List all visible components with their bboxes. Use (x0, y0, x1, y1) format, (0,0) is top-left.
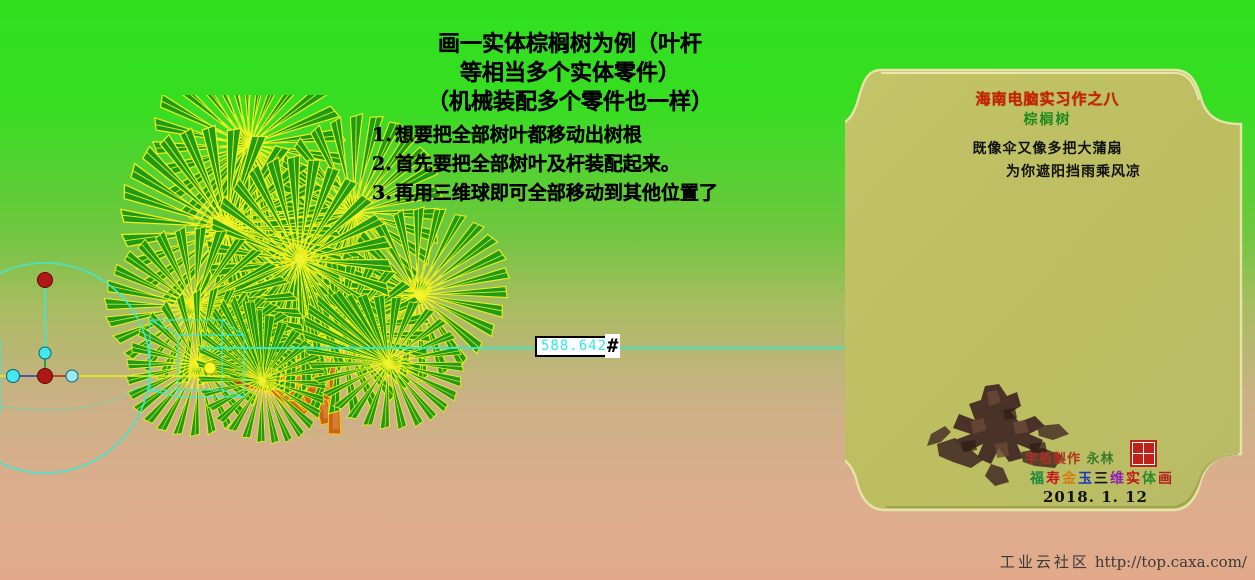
instruction-header-line-1: 画一实体棕榈树为例（叶杆 (360, 30, 780, 59)
seal-quadrant (1133, 454, 1143, 464)
dimension-value-box[interactable]: 588.642 (535, 336, 613, 357)
decorative-plaque[interactable]: 海南电脑实习作之八 棕榈树 既像伞又像多把大蒲扇 为你遮阳挡雨乘风凉 (845, 62, 1250, 520)
ball-outer-circle (0, 263, 150, 473)
colorful-signature-char: 实 (1126, 471, 1142, 487)
ball-x-neg-handle (7, 370, 20, 383)
step-number: 2. (372, 153, 392, 175)
three-dimensional-ball-manipulator[interactable] (0, 235, 230, 485)
ball-y-handle (39, 347, 51, 359)
cursive-signature-a: 宇栢製作 (1025, 452, 1081, 467)
ball-x-pos-handle (66, 370, 78, 382)
seal-quadrant (1144, 443, 1154, 453)
red-seal-stamp (1130, 440, 1157, 467)
instruction-step: 2.首先要把全部树叶及杆装配起来。 (360, 150, 780, 179)
seal-quadrant (1133, 443, 1143, 453)
plaque-cursive-signature: 宇栢製作 永林 (1025, 448, 1115, 467)
colorful-signature-char: 福 (1030, 471, 1046, 487)
instruction-header-line-3: （机械装配多个零件也一样） (360, 88, 780, 117)
cad-viewport[interactable]: 588.642 # 画一实体棕榈树为例（叶杆 等相当多个实体零件） （机械装配多… (0, 0, 1255, 580)
colorful-signature-char: 寿 (1046, 471, 1062, 487)
plaque-title: 海南电脑实习作之八 (845, 88, 1250, 109)
instruction-step-list: 1.想要把全部树叶都移动出树根 2.首先要把全部树叶及杆装配起来。 3.再用三维… (360, 121, 780, 208)
seal-quadrant (1144, 454, 1154, 464)
dimension-marker-icon: # (605, 334, 620, 358)
ball-top-handle (38, 273, 53, 288)
instruction-overlay: 画一实体棕榈树为例（叶杆 等相当多个实体零件） （机械装配多个零件也一样） 1.… (360, 30, 780, 208)
ball-center-handle (38, 369, 53, 384)
colorful-signature-char: 画 (1158, 471, 1174, 487)
plaque-poem-line-1: 既像伞又像多把大蒲扇 (845, 138, 1250, 158)
plaque-poem-line-2: 为你遮阳挡雨乘风凉 (845, 161, 1250, 181)
plaque-colorful-signature: 福寿金玉三维实体画 (1030, 468, 1174, 488)
watermark-community: 工业云社区 (1000, 553, 1090, 571)
instruction-step: 3.再用三维球即可全部移动到其他位置了 (360, 179, 780, 208)
colorful-signature-char: 三 (1094, 471, 1110, 487)
plaque-subtitle: 棕榈树 (845, 109, 1250, 129)
watermark: 工业云社区http://top.caxa.com/ (1000, 551, 1247, 572)
step-text: 再用三维球即可全部移动到其他位置了 (395, 182, 718, 204)
instruction-step: 1.想要把全部树叶都移动出树根 (360, 121, 780, 150)
watermark-url: http://top.caxa.com/ (1095, 553, 1247, 571)
step-text: 首先要把全部树叶及杆装配起来。 (395, 153, 680, 175)
instruction-header-line-2: 等相当多个实体零件） (360, 59, 780, 88)
plaque-date: 2018. 1. 12 (1043, 488, 1148, 506)
colorful-signature-char: 体 (1142, 471, 1158, 487)
colorful-signature-char: 维 (1110, 471, 1126, 487)
step-number: 3. (372, 182, 392, 204)
dimension-value: 588.642 (541, 338, 607, 355)
step-text: 想要把全部树叶都移动出树根 (395, 124, 642, 146)
cursive-signature-b: 永林 (1087, 452, 1115, 467)
colorful-signature-char: 金 (1062, 471, 1078, 487)
plaque-content: 海南电脑实习作之八 棕榈树 既像伞又像多把大蒲扇 为你遮阳挡雨乘风凉 (845, 62, 1250, 520)
step-number: 1. (372, 124, 392, 146)
colorful-signature-char: 玉 (1078, 471, 1094, 487)
